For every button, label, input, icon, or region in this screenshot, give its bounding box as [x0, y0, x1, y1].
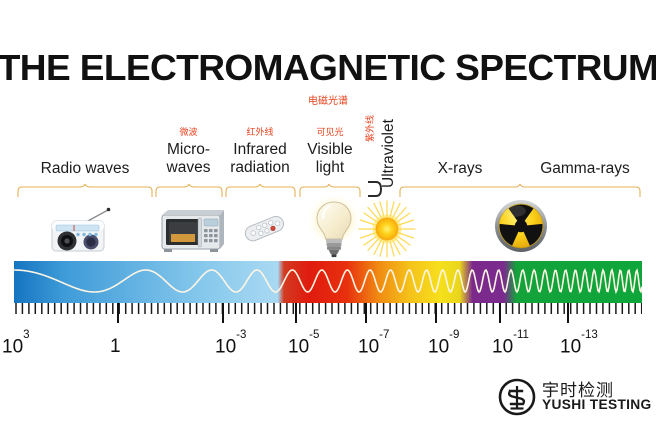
band-label-xrays: X-rays: [400, 160, 520, 178]
electromagnetic-spectrum-infographic: THE ELECTROMAGNETIC SPECTRUM 电磁光谱 Radio …: [0, 0, 656, 423]
page-title: THE ELECTROMAGNETIC SPECTRUM: [0, 47, 656, 89]
bracket-radio: [14, 184, 156, 198]
light-bulb-icon: [305, 196, 363, 263]
spectrum-bar: [14, 261, 642, 323]
band-label-cn-infrared: 红外线: [223, 128, 297, 138]
scale-tick-label-5: 10-9: [428, 336, 459, 358]
bracket-infrared: [223, 184, 298, 198]
logo-text-en: YUSHI TESTING: [542, 397, 652, 412]
bracket-ultraviolet: [366, 180, 384, 198]
band-label-cn-microwaves: 微波: [155, 128, 222, 138]
spectrum-ruler: [14, 303, 642, 323]
band-label-infrared-line2: radiation: [223, 159, 297, 177]
band-label-microwaves-line2: waves: [155, 159, 222, 177]
sun-icon: [356, 200, 418, 263]
band-label-microwaves-line1: Micro-: [155, 141, 222, 159]
bracket-microwaves: [153, 184, 225, 198]
scale-tick-label-1: 1: [110, 336, 121, 358]
band-label-gammarays: Gamma-rays: [525, 160, 645, 178]
circular-s-emblem-icon: [498, 378, 536, 416]
radio-icon: [44, 206, 114, 259]
band-label-visible-line2: light: [300, 159, 360, 177]
page-subtitle-chinese: 电磁光谱: [0, 92, 656, 107]
scale-tick-label-0: 103: [2, 336, 30, 358]
scale-tick-label-2: 10-3: [215, 336, 246, 358]
logo: 宇时检测 YUSHI TESTING: [498, 378, 648, 418]
radioactive-icon: [493, 198, 549, 259]
band-label-cn-ultraviolet: 紫外线: [366, 115, 376, 142]
band-label-infrared-line1: Infrared: [223, 141, 297, 159]
scale-tick-label-7: 10-13: [560, 336, 598, 358]
scale-tick-label-6: 10-11: [492, 336, 529, 358]
spectrum-wave: [14, 261, 642, 303]
microwave-oven-icon: [158, 205, 224, 260]
scale-tick-label-4: 10-7: [358, 336, 389, 358]
bracket-xrays-gammarays: [396, 184, 644, 198]
band-label-ultraviolet: Ultraviolet: [380, 119, 398, 188]
scale-tick-label-3: 10-5: [288, 336, 319, 358]
tv-remote-icon: [243, 210, 287, 255]
band-label-radio: Radio waves: [18, 160, 152, 178]
band-label-cn-visible: 可见光: [300, 128, 360, 138]
band-label-visible-line1: Visible: [300, 141, 360, 159]
